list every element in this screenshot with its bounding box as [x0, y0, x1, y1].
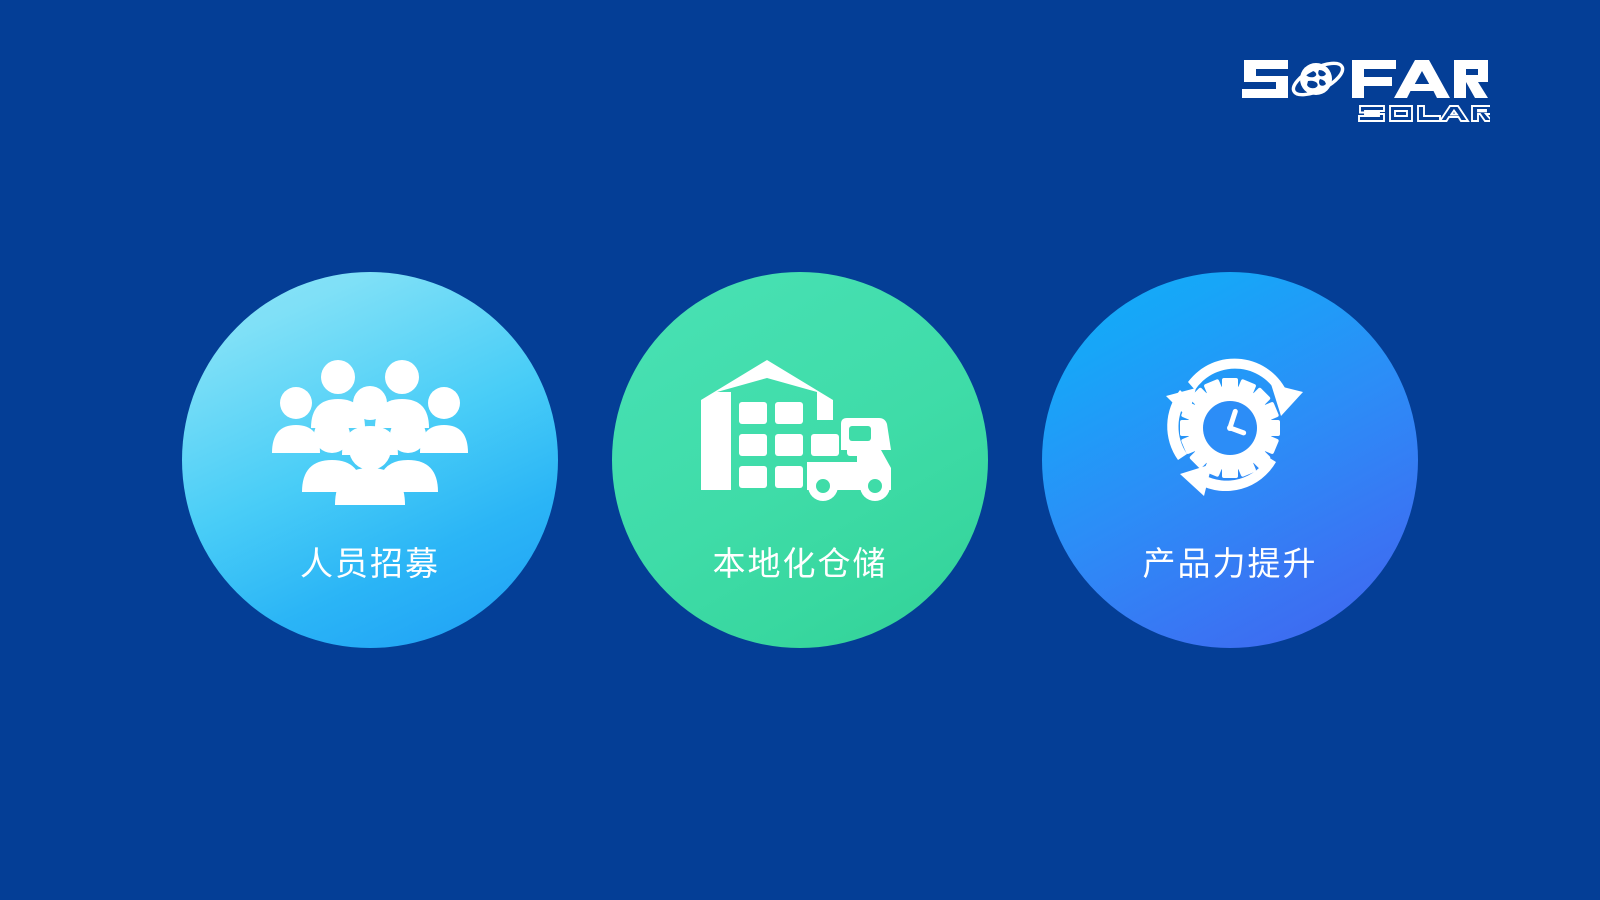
brand-logo: [1240, 46, 1490, 124]
gear-clock-cycle-icon: [1125, 350, 1335, 510]
feature-label-product-capability: 产品力提升: [1042, 544, 1418, 584]
feature-circle-warehousing[interactable]: 本地化仓储: [612, 272, 988, 648]
feature-circle-product-capability[interactable]: 产品力提升: [1042, 272, 1418, 648]
feature-circle-row: 人员招募: [0, 272, 1600, 652]
people-group-icon: [265, 350, 475, 510]
slide-canvas: 人员招募: [0, 0, 1600, 900]
warehouse-truck-icon-svg: [695, 358, 905, 503]
feature-circle-recruitment[interactable]: 人员招募: [182, 272, 558, 648]
feature-label-recruitment: 人员招募: [182, 544, 558, 584]
feature-label-warehousing: 本地化仓储: [612, 544, 988, 584]
gear-clock-cycle-icon-svg: [1140, 340, 1320, 520]
sofar-solar-logo-svg: [1240, 46, 1490, 124]
warehouse-truck-icon: [695, 350, 905, 510]
people-group-icon-svg: [270, 355, 470, 505]
globe-orbit-icon: [1289, 57, 1347, 101]
